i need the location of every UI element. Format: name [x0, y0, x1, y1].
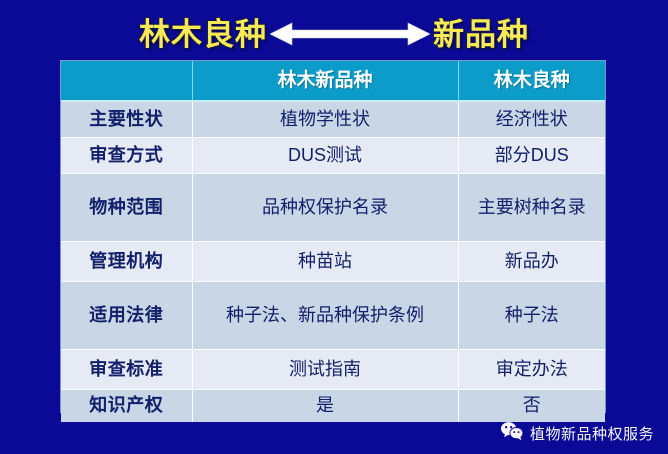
cell-improved-variety: 种子法 [458, 281, 605, 349]
cell-improved-variety: 主要树种名录 [458, 173, 605, 241]
cell-improved-variety: 审定办法 [458, 349, 605, 389]
table-row: 管理机构 种苗站 新品办 [61, 241, 605, 281]
cell-improved-variety: 部分DUS [458, 137, 605, 173]
table-row: 知识产权 是 否 [61, 389, 605, 422]
row-label: 适用法律 [61, 281, 192, 349]
column-header-improved-variety: 林木良种 [458, 61, 605, 101]
cell-new-variety: 测试指南 [192, 349, 458, 389]
cell-new-variety: 是 [192, 389, 458, 422]
row-label: 物种范围 [61, 173, 192, 241]
cell-improved-variety: 否 [458, 389, 605, 422]
watermark: 植物新品种权服务 [500, 421, 654, 446]
table-row: 主要性状 植物学性状 经济性状 [61, 101, 605, 137]
comparison-table: 林木新品种 林木良种 主要性状 植物学性状 经济性状 审查方式 DUS测试 部分… [61, 61, 605, 422]
row-label: 主要性状 [61, 101, 192, 137]
column-header-new-variety: 林木新品种 [192, 61, 458, 101]
watermark-label: 植物新品种权服务 [530, 423, 654, 444]
cell-new-variety: 植物学性状 [192, 101, 458, 137]
table-row: 适用法律 种子法、新品种保护条例 种子法 [61, 281, 605, 349]
slide-canvas: 林木良种 新品种 林木新品种 林木良种 主要性状 [0, 0, 668, 454]
cell-improved-variety: 经济性状 [458, 101, 605, 137]
row-label: 管理机构 [61, 241, 192, 281]
cell-new-variety: 种苗站 [192, 241, 458, 281]
cell-new-variety: 品种权保护名录 [192, 173, 458, 241]
cell-new-variety: 种子法、新品种保护条例 [192, 281, 458, 349]
table-row: 物种范围 品种权保护名录 主要树种名录 [61, 173, 605, 241]
title-left-term: 林木良种 [139, 19, 267, 50]
title-right-term: 新品种 [433, 19, 529, 50]
row-label: 审查方式 [61, 137, 192, 173]
column-header-attribute [61, 61, 192, 101]
cell-new-variety: DUS测试 [192, 137, 458, 173]
row-label: 审查标准 [61, 349, 192, 389]
row-label: 知识产权 [61, 389, 192, 422]
table-header-row: 林木新品种 林木良种 [61, 61, 605, 101]
double-headed-arrow-icon [267, 18, 433, 50]
table-row: 审查方式 DUS测试 部分DUS [61, 137, 605, 173]
comparison-table-container: 林木新品种 林木良种 主要性状 植物学性状 经济性状 审查方式 DUS测试 部分… [60, 60, 606, 413]
cell-improved-variety: 新品办 [458, 241, 605, 281]
wechat-icon [500, 421, 524, 446]
table-row: 审查标准 测试指南 审定办法 [61, 349, 605, 389]
slide-title: 林木良种 新品种 [0, 9, 668, 59]
